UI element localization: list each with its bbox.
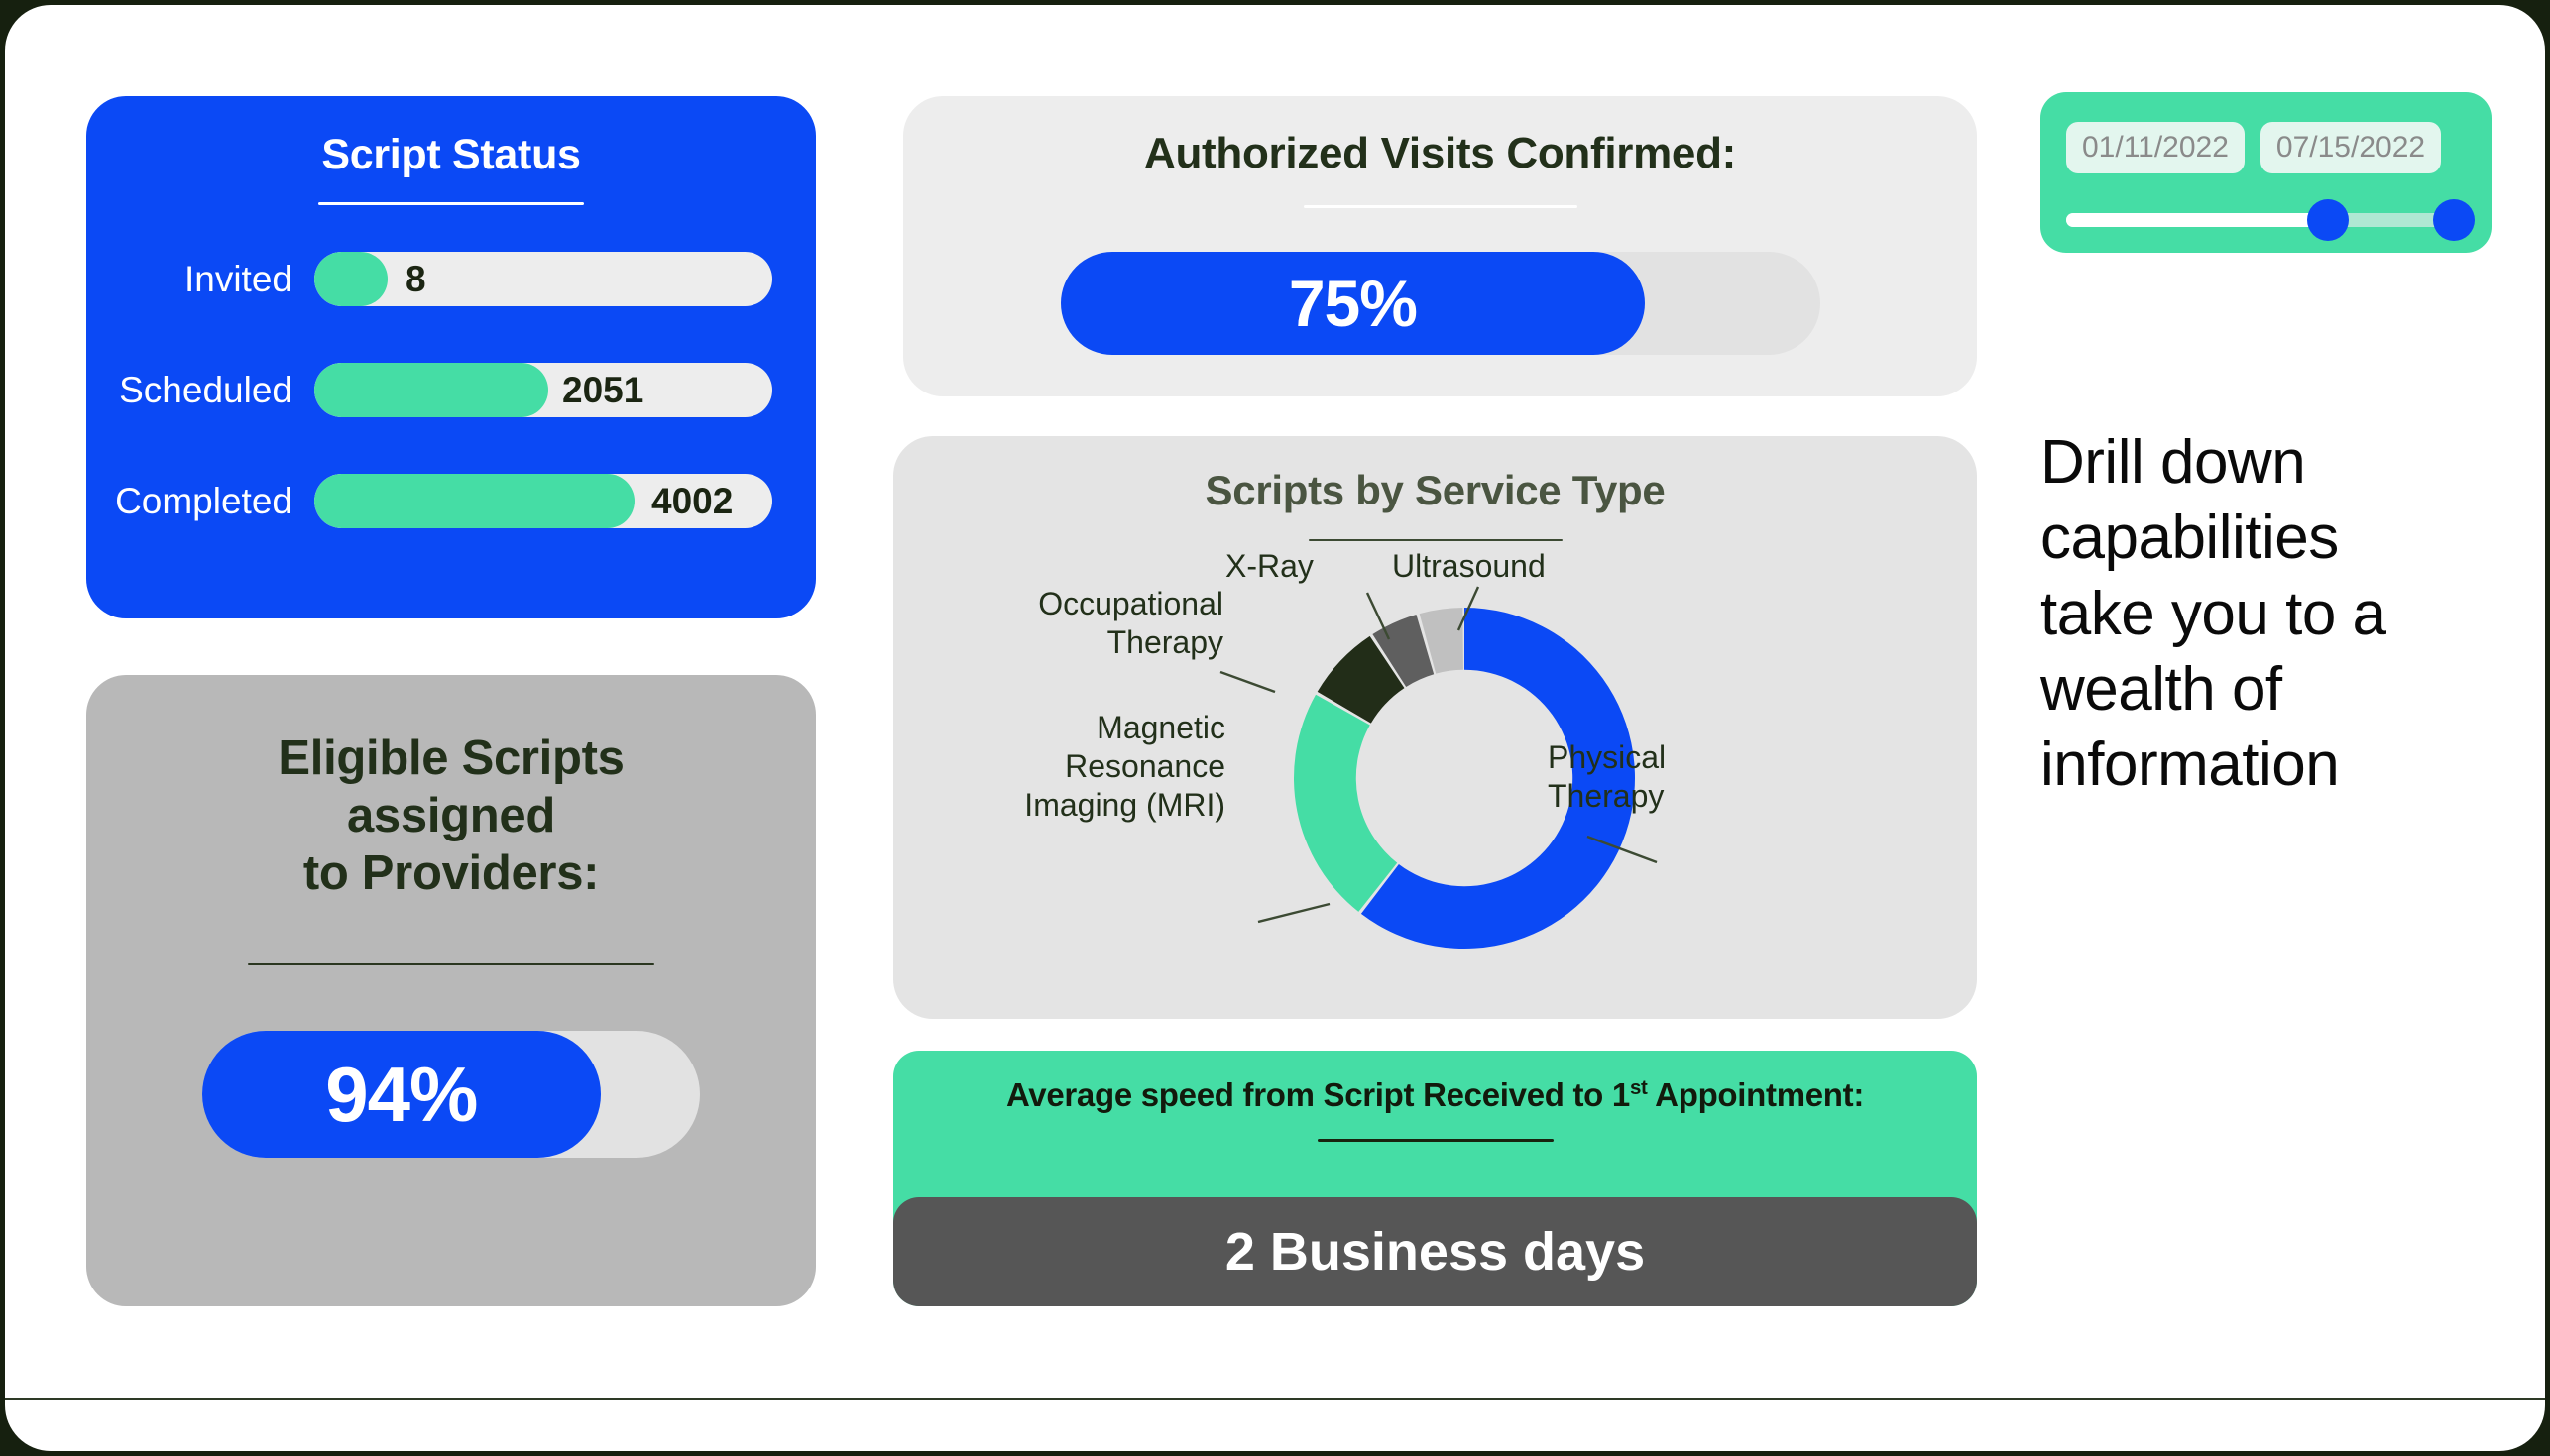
eligible-scripts-divider: [248, 963, 654, 965]
bar-label-invited: Invited: [86, 259, 314, 300]
authorized-percent-value: 75%: [1289, 266, 1417, 341]
date-range-filter[interactable]: 01/11/2022 07/15/2022: [2040, 92, 2492, 253]
donut-leader-line: [1220, 672, 1275, 692]
average-speed-title: Average speed from Script Received to 1s…: [893, 1051, 1977, 1115]
slider-fill: [2066, 213, 2327, 227]
bar-fill-completed: [314, 474, 635, 528]
eligible-scripts-card: Eligible Scriptsassignedto Providers: 94…: [86, 675, 816, 1306]
bar-track-invited: 8: [314, 252, 772, 306]
bar-label-scheduled: Scheduled: [86, 370, 314, 411]
dashboard-frame: Script Status Invited 8 Scheduled 2051 C…: [5, 5, 2545, 1451]
authorized-visits-divider: [1304, 205, 1577, 208]
bar-row[interactable]: Scheduled 2051: [86, 360, 816, 421]
drilldown-caption: Drill down capabilities take you to a we…: [2040, 425, 2457, 803]
bar-value-invited: 8: [406, 259, 426, 300]
average-speed-card: Average speed from Script Received to 1s…: [893, 1051, 1977, 1306]
donut-label-xray: X-Ray: [1225, 547, 1314, 586]
average-speed-value: 2 Business days: [1225, 1221, 1645, 1283]
date-range-slider[interactable]: [2066, 199, 2466, 239]
donut-label-ultrasound: Ultrasound: [1392, 547, 1546, 586]
script-status-divider: [318, 202, 584, 205]
ordinal-suffix: st: [1630, 1076, 1648, 1099]
authorized-progress-track: 75%: [1061, 252, 1820, 355]
script-status-bars: Invited 8 Scheduled 2051 Completed 4002: [86, 249, 816, 532]
end-date-input[interactable]: 07/15/2022: [2260, 122, 2441, 173]
donut-label-physical-therapy: Physical Therapy: [1548, 738, 1666, 816]
authorized-progress-fill: 75%: [1061, 252, 1646, 355]
eligible-progress-fill: 94%: [202, 1031, 601, 1158]
bar-value-scheduled: 2051: [562, 370, 643, 411]
script-status-title: Script Status: [86, 130, 816, 180]
bar-row[interactable]: Invited 8: [86, 249, 816, 310]
average-speed-divider: [1318, 1139, 1554, 1142]
donut-label-occupational-therapy: Occupational Therapy: [1000, 585, 1223, 662]
slider-handle-start[interactable]: [2307, 199, 2349, 241]
scripts-by-service-type-card: Scripts by Service Type Physical Therapy…: [893, 436, 1977, 1019]
start-date-input[interactable]: 01/11/2022: [2066, 122, 2245, 173]
bar-fill-scheduled: [314, 363, 548, 417]
bar-fill-invited: [314, 252, 388, 306]
eligible-scripts-title: Eligible Scriptsassignedto Providers:: [86, 730, 816, 902]
donut-label-mri: Magnetic Resonance Imaging (MRI): [992, 709, 1225, 825]
slider-handle-end[interactable]: [2433, 199, 2475, 241]
average-speed-value-banner: 2 Business days: [893, 1197, 1977, 1306]
donut-slice-magnetic-resonance-imaging-mri[interactable]: [1294, 695, 1397, 912]
bar-label-completed: Completed: [86, 481, 314, 522]
eligible-percent-value: 94%: [325, 1050, 477, 1140]
authorized-visits-title: Authorized Visits Confirmed:: [903, 128, 1977, 179]
date-chips: 01/11/2022 07/15/2022: [2040, 92, 2492, 173]
authorized-visits-card: Authorized Visits Confirmed: 75%: [903, 96, 1977, 396]
eligible-progress-track: 94%: [202, 1031, 700, 1158]
bar-track-completed: 4002: [314, 474, 772, 528]
bar-value-completed: 4002: [651, 481, 733, 522]
bar-track-scheduled: 2051: [314, 363, 772, 417]
script-status-card: Script Status Invited 8 Scheduled 2051 C…: [86, 96, 816, 618]
bar-row[interactable]: Completed 4002: [86, 471, 816, 532]
donut-leader-line: [1258, 904, 1330, 922]
footer-divider: [5, 1398, 2545, 1400]
